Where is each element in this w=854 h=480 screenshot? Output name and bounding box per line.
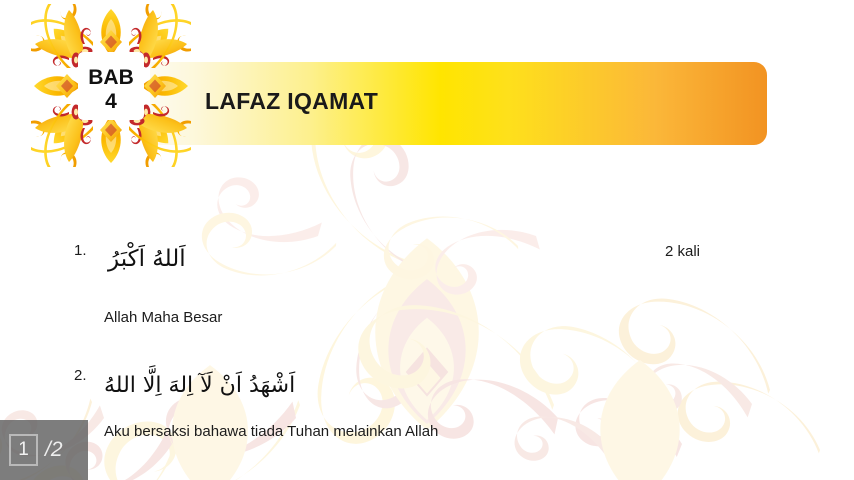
slide-canvas: LAFAZ IQAMAT [0, 0, 854, 480]
repeat-count-label: 2 kali [665, 243, 700, 260]
list-item-number: 2. [74, 367, 87, 384]
total-pages-label: /2 [45, 438, 63, 462]
arabic-phrase: اَللهُ اَكْبَرُ [108, 246, 186, 272]
list-item-number: 1. [74, 242, 87, 259]
current-page-input[interactable]: 1 [9, 434, 38, 466]
translation-text: Aku bersaksi bahawa tiada Tuhan melainka… [104, 423, 438, 440]
arabic-phrase: اَشْهَدُ اَنْ لَآ اِلهَ اِلَّا اللهُ [104, 373, 295, 398]
page-navigation[interactable]: 1 /2 [0, 420, 88, 480]
translation-text: Allah Maha Besar [104, 309, 222, 326]
slide-content: 1. اَللهُ اَكْبَرُ Allah Maha Besar 2 ka… [0, 0, 854, 480]
